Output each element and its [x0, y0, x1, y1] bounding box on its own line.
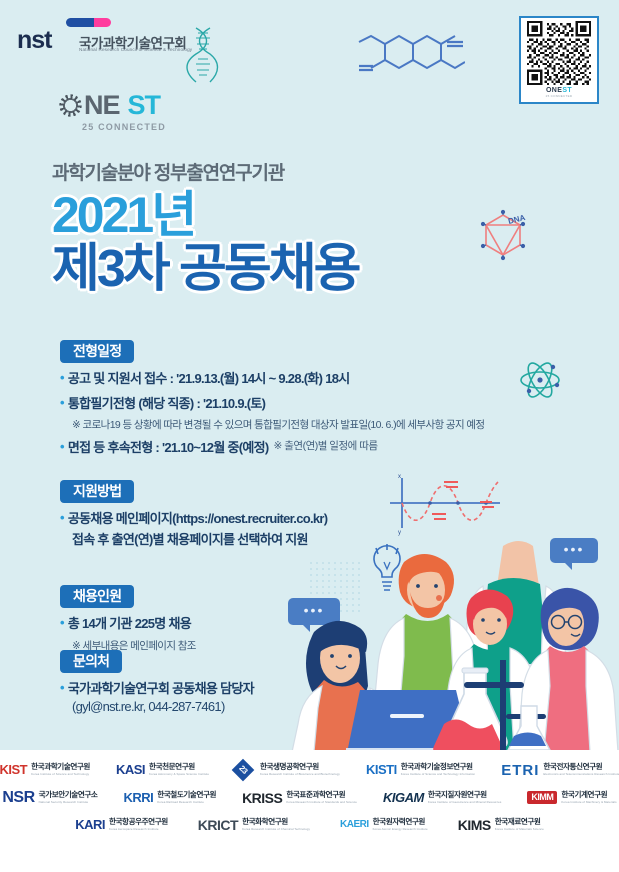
logo-mark: KIMS	[458, 818, 491, 832]
svg-text:y: y	[398, 530, 401, 536]
qr-caption-one: ONE	[546, 87, 562, 94]
svg-text:x: x	[398, 474, 401, 480]
sine-graph-icon: x y	[388, 474, 514, 536]
contact-person-text: 국가과학기술연구회 공동채용 담당자	[68, 680, 254, 698]
logo-en: Korea Astronomy & Space Science Institut…	[149, 773, 209, 777]
page-title-year: 2021년	[52, 190, 194, 240]
logo-kriss: KRISS 한국표준과학연구원Korea Research Institute …	[242, 791, 357, 805]
logo-en: Korea Aerospace Research Institute	[109, 828, 168, 832]
logo-en: Korea Institute of Materials Science	[495, 828, 544, 832]
logo-row-1: KIST 한국과학기술연구원Korea Institute of Science…	[0, 762, 619, 778]
schedule-item-written-exam: • 통합필기전형 (해당 직종) : '21.10.9.(토)	[60, 395, 484, 413]
logo-kr: 한국과학기술연구원	[31, 763, 90, 771]
section-hiring-count: 채용인원 • 총 14개 기관 225명 채용 ※ 세부내용은 메인페이지 참조	[60, 585, 196, 653]
section-badge-apply: 지원방법	[60, 480, 134, 503]
logo-krri: KRRI 한국철도기술연구원Korea Railroad Research In…	[123, 791, 216, 804]
section-contact: 문의처 • 국가과학기술연구회 공동채용 담당자 (gyl@nst.re.kr,…	[60, 650, 254, 714]
logo-kigam: KIGAM 한국지질자원연구원Korea Institute of Geosci…	[383, 791, 501, 804]
nst-english-name: National Research Council of Science & T…	[79, 47, 192, 52]
logo-mark: KIST	[0, 763, 27, 776]
logo-mark: KIGAM	[383, 791, 424, 804]
qr-code-box[interactable]: ONEST 25 CONNECTED	[519, 16, 599, 104]
logo-kisti: KISTI 한국과학기술정보연구원Korea Institute of Scie…	[366, 763, 475, 776]
nst-capsule-mark	[66, 18, 111, 27]
logo-kr: 한국항공우주연구원	[109, 818, 168, 826]
logo-mark: NSR	[2, 790, 34, 806]
logo-mark: KASI	[116, 763, 145, 776]
logo-kr: 한국기계연구원	[561, 791, 616, 799]
molecule-structure-icon	[355, 30, 465, 82]
logo-row-2: NSR 국가보안기술연구소National Security Research …	[0, 790, 619, 806]
nst-logo: nst 국가과학기술연구회 National Research Council …	[17, 18, 177, 58]
nst-wordmark: nst	[17, 28, 52, 53]
bullet-icon: •	[60, 439, 64, 455]
onest-st-text: ST	[128, 92, 161, 119]
logo-kr: 한국화학연구원	[242, 818, 310, 826]
page-eyebrow: 과학기술분야 정부출연연구기관	[52, 158, 284, 185]
logo-mark: KARI	[75, 818, 105, 831]
lightbulb-icon	[374, 544, 400, 590]
logo-kist: KIST 한국과학기술연구원Korea Institute of Science…	[0, 763, 90, 776]
logo-kr: 한국천문연구원	[149, 763, 209, 771]
logo-en: Electronics and Telecommunications Resea…	[543, 773, 619, 777]
onest-tagline: 25 CONNECTED	[82, 122, 166, 132]
schedule-item-application-text: 공고 및 지원서 접수 : '21.9.13.(월) 14시 ~ 9.28.(화…	[68, 370, 350, 388]
logo-en: Korea Institute of Geoscience and Minera…	[428, 801, 502, 805]
poster-canvas: nst 국가과학기술연구회 National Research Council …	[0, 0, 619, 872]
section-badge-contact: 문의처	[60, 650, 122, 673]
logo-kr: 한국표준과학연구원	[286, 791, 357, 799]
schedule-item-application: • 공고 및 지원서 접수 : '21.9.13.(월) 14시 ~ 9.28.…	[60, 370, 484, 388]
bullet-icon: •	[60, 370, 64, 386]
logo-en: National Security Research Institute	[39, 801, 98, 805]
institution-logos-footer: KIST 한국과학기술연구원Korea Institute of Science…	[0, 750, 619, 872]
schedule-note-covid: ※ 코로나19 등 상황에 따라 변경될 수 있으며 통합필기전형 대상자 발표…	[72, 417, 484, 432]
contact-person-line: • 국가과학기술연구회 공동채용 담당자	[60, 680, 254, 698]
apply-url-text[interactable]: 공동채용 메인페이지(https://onest.recruiter.co.kr…	[68, 510, 328, 528]
logo-kr: 한국원자력연구원	[373, 818, 428, 826]
schedule-item-interview: • 면접 등 후속전형 : '21.10~12월 중(예정) ※ 출연(연)별 …	[60, 439, 484, 457]
schedule-item-written-exam-text: 통합필기전형 (해당 직종) : '21.10.9.(토)	[68, 395, 265, 413]
apply-url-line[interactable]: • 공동채용 메인페이지(https://onest.recruiter.co.…	[60, 510, 327, 528]
schedule-item-interview-note: ※ 출연(연)별 일정에 따름	[274, 439, 378, 453]
onest-logo: NE ST 25 CONNECTED	[58, 92, 188, 138]
qr-caption-st: ST	[562, 87, 572, 94]
logo-etri: ETRI 한국전자통신연구원Electronics and Telecommun…	[501, 763, 619, 778]
logo-mark: KISTI	[366, 763, 397, 776]
logo-en: Korea Railroad Research Institute	[157, 801, 216, 805]
logo-kasi: KASI 한국천문연구원Korea Astronomy & Space Scie…	[116, 763, 209, 776]
logo-nsr: NSR 국가보안기술연구소National Security Research …	[2, 790, 97, 806]
atom-icon	[518, 358, 562, 402]
logo-kr: 한국과학기술정보연구원	[401, 763, 476, 771]
logo-en: Korea Atomic Energy Research Institute	[373, 828, 428, 832]
schedule-item-interview-text: 면접 등 후속전형 : '21.10~12월 중(예정)	[68, 439, 269, 457]
onest-ne-text: NE	[84, 92, 120, 119]
hiring-count-text: 총 14개 기관 225명 채용	[68, 615, 191, 633]
bullet-icon: •	[60, 395, 64, 411]
contact-details-text[interactable]: (gyl@nst.re.kr, 044-287-7461)	[72, 699, 254, 714]
logo-kaeri: KAERI 한국원자력연구원Korea Atomic Energy Resear…	[340, 818, 428, 831]
logo-en: Korea Research Institute of Chemical Tec…	[242, 828, 310, 832]
illustration-figures	[278, 540, 619, 752]
section-badge-count: 채용인원	[60, 585, 134, 608]
bullet-icon: •	[60, 680, 64, 696]
logo-kari: KARI 한국항공우주연구원Korea Aerospace Research I…	[75, 818, 168, 831]
logo-mark: KAERI	[340, 820, 369, 830]
logo-kimm: KIMM 한국기계연구원Korea Institute of Machinery…	[527, 791, 616, 804]
logo-en: Korea Institute of Science and Technolog…	[401, 773, 476, 777]
logo-mark: 23	[232, 759, 255, 782]
logo-kr: 한국지질자원연구원	[428, 791, 502, 799]
dna-helix-icon	[186, 26, 220, 86]
logo-mark: ETRI	[501, 763, 539, 778]
logo-en: Korea Institute of Machinery & Materials	[561, 801, 616, 805]
logo-kr: 한국생명공학연구원	[260, 763, 340, 771]
logo-kims: KIMS 한국재료연구원Korea Institute of Materials…	[458, 818, 544, 832]
logo-kr: 한국전자통신연구원	[543, 763, 619, 771]
qr-caption: ONEST	[524, 87, 594, 94]
logo-krict: KRICT 한국화학연구원Korea Research Institute of…	[198, 818, 310, 832]
logo-mark: KIMM	[527, 791, 557, 804]
logo-kr: 국가보안기술연구소	[39, 791, 98, 799]
qr-subcaption: 25 CONNECTED	[524, 94, 594, 98]
section-schedule: 전형일정 • 공고 및 지원서 접수 : '21.9.13.(월) 14시 ~ …	[60, 340, 484, 457]
onest-circle-icon	[58, 93, 83, 118]
logo-row-3: KARI 한국항공우주연구원Korea Aerospace Research I…	[0, 818, 619, 832]
logo-en: Korea Research Institute of Bioscience a…	[260, 773, 340, 777]
logo-en: Korea Research Institute of Standards an…	[286, 801, 357, 805]
bullet-icon: •	[60, 615, 64, 631]
page-title-main: 제3차 공동채용	[52, 243, 358, 295]
logo-kr: 한국철도기술연구원	[157, 791, 216, 799]
logo-mark: KRRI	[123, 791, 153, 804]
hiring-count-line: • 총 14개 기관 225명 채용	[60, 615, 196, 633]
bullet-icon: •	[60, 510, 64, 526]
section-badge-schedule: 전형일정	[60, 340, 134, 363]
section-apply-method: 지원방법 • 공동채용 메인페이지(https://onest.recruite…	[60, 480, 327, 548]
logo-kribb: 23 한국생명공학연구원Korea Research Institute of …	[235, 762, 340, 778]
scientists-illustration: ••• ••• •••	[278, 540, 619, 752]
logo-kr: 한국재료연구원	[495, 818, 544, 826]
logo-mark: KRICT	[198, 818, 238, 832]
qr-code-image	[524, 21, 594, 85]
logo-mark: KRISS	[242, 791, 282, 805]
logo-en: Korea Institute of Science and Technolog…	[31, 773, 90, 777]
